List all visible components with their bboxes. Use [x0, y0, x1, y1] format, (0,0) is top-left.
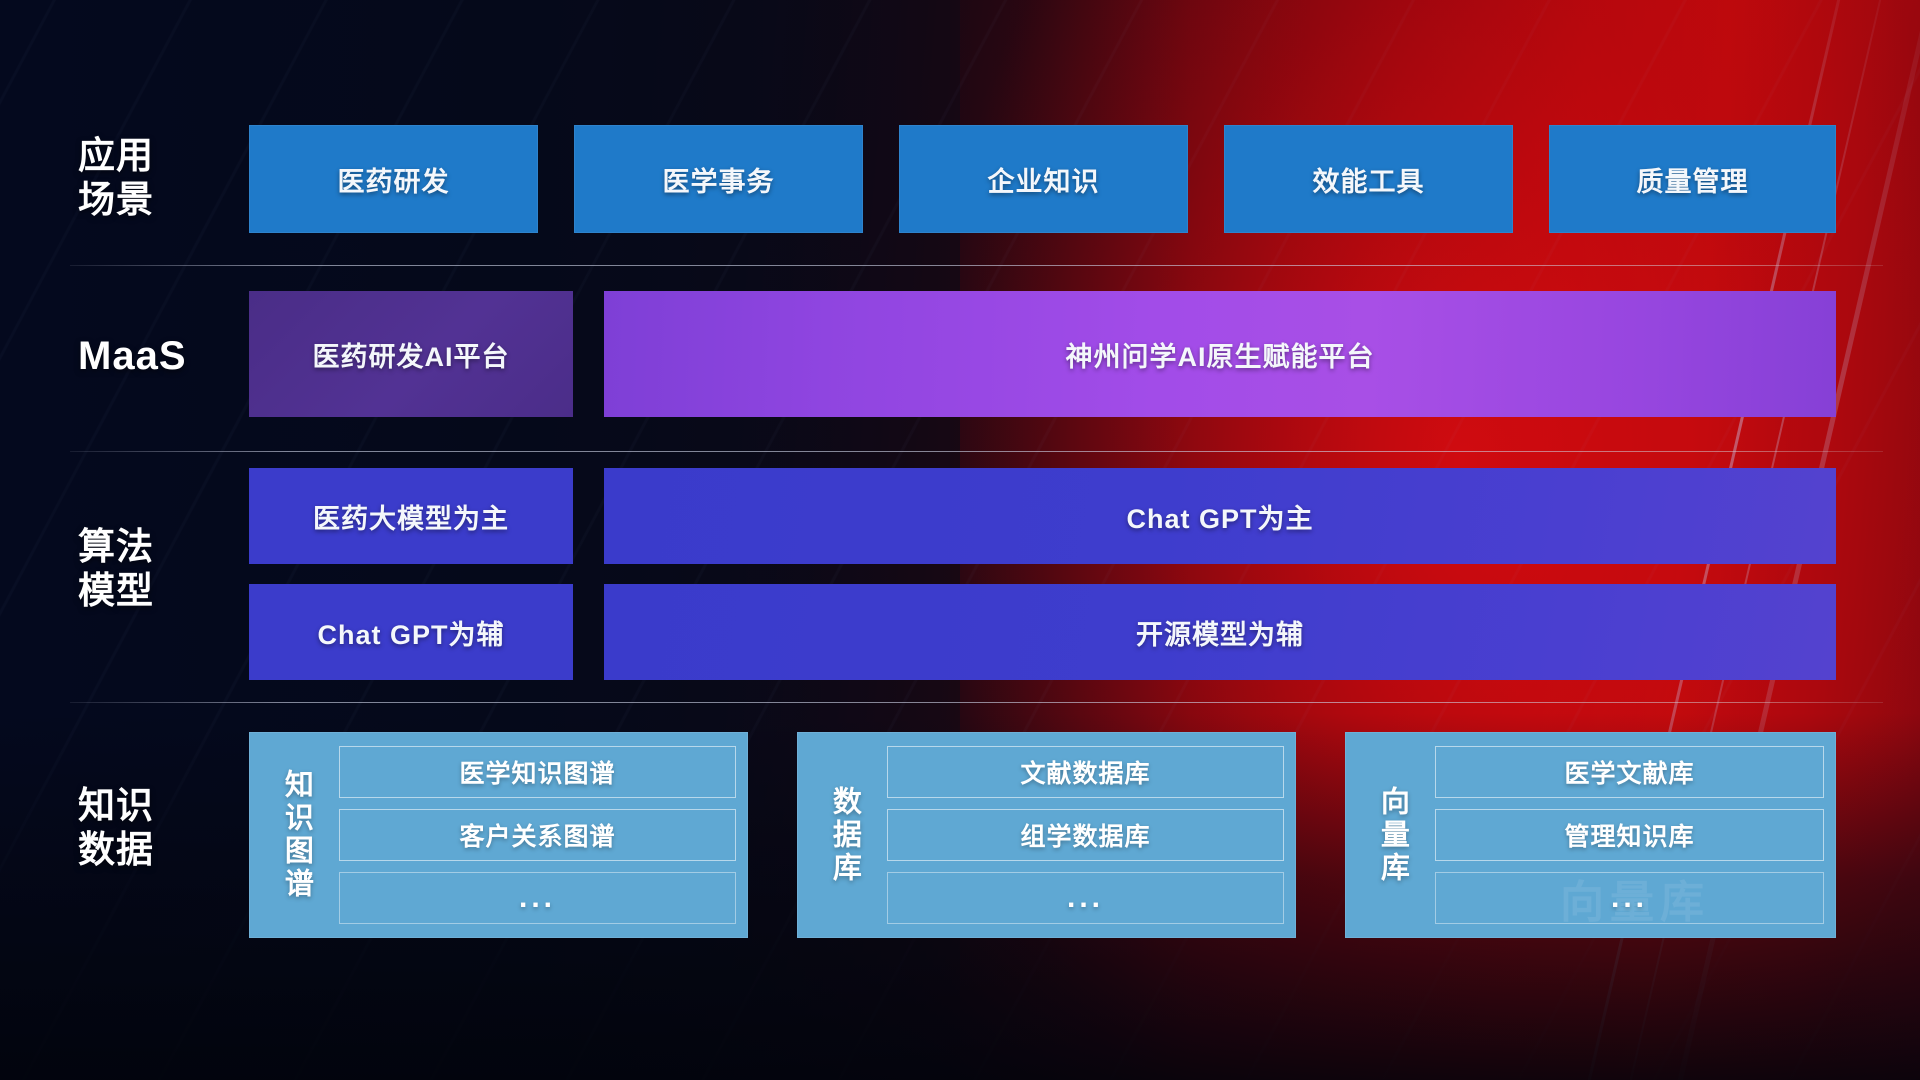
divider-algorithm-knowledge	[70, 702, 1883, 703]
knowledge-items-list: 医学文献库 管理知识库 ...	[1429, 742, 1824, 928]
knowledge-group-database[interactable]: 数据库 文献数据库 组学数据库 ...	[797, 732, 1296, 938]
knowledge-items-list: 医学知识图谱 客户关系图谱 ...	[333, 742, 736, 928]
row-label-maas: MaaS	[78, 333, 238, 380]
knowledge-item-more[interactable]: ...	[1435, 872, 1824, 924]
row-label-line2: 场景	[78, 178, 238, 222]
row-label-algorithm-model: 算法 模型	[78, 525, 238, 612]
row-algorithm-model: 算法 模型 医药大模型为主 Chat GPT为主 Chat GPT为辅 开源模型…	[0, 468, 1920, 680]
algo-box-chatgpt-secondary[interactable]: Chat GPT为辅	[249, 584, 573, 680]
divider-maas-algorithm	[70, 451, 1883, 452]
app-box-quality-management[interactable]: 质量管理	[1549, 125, 1836, 233]
knowledge-group-vector-database[interactable]: 向量库 医学文献库 管理知识库 ...	[1345, 732, 1836, 938]
algo-box-chatgpt-primary[interactable]: Chat GPT为主	[604, 468, 1836, 564]
app-box-medical-affairs[interactable]: 医学事务	[574, 125, 863, 233]
knowledge-item-more[interactable]: ...	[339, 872, 736, 924]
row-application-scenarios: 应用 场景 医药研发 医学事务 企业知识 效能工具 质量管理	[0, 125, 1920, 233]
row-label-line2: 模型	[78, 569, 238, 613]
knowledge-item-management-knowledge-base[interactable]: 管理知识库	[1435, 809, 1824, 861]
knowledge-items-list: 文献数据库 组学数据库 ...	[881, 742, 1284, 928]
row-maas: MaaS 医药研发AI平台 神州问学AI原生赋能平台	[0, 291, 1920, 417]
app-box-medicine-rd[interactable]: 医药研发	[249, 125, 538, 233]
knowledge-group-title-knowledge-graph: 知识图谱	[259, 742, 333, 928]
algo-box-opensource-secondary[interactable]: 开源模型为辅	[604, 584, 1836, 680]
knowledge-item-omics-database[interactable]: 组学数据库	[887, 809, 1284, 861]
row-label-line2: 数据	[78, 828, 238, 872]
knowledge-item-medical-knowledge-graph[interactable]: 医学知识图谱	[339, 746, 736, 798]
knowledge-item-literature-database[interactable]: 文献数据库	[887, 746, 1284, 798]
row-label-application-scenarios: 应用 场景	[78, 134, 238, 221]
row-knowledge-data: 知识 数据 知识图谱 医学知识图谱 客户关系图谱 ... 数据库 文献数据库 组…	[0, 732, 1920, 938]
knowledge-item-more[interactable]: ...	[887, 872, 1284, 924]
maas-box-medicine-rd-ai-platform[interactable]: 医药研发AI平台	[249, 291, 573, 417]
knowledge-item-medical-literature-library[interactable]: 医学文献库	[1435, 746, 1824, 798]
maas-box-shenzhou-wenxue-platform[interactable]: 神州问学AI原生赋能平台	[604, 291, 1836, 417]
app-box-efficiency-tools[interactable]: 效能工具	[1224, 125, 1513, 233]
app-box-enterprise-knowledge[interactable]: 企业知识	[899, 125, 1188, 233]
knowledge-group-title-vector-database: 向量库	[1355, 742, 1429, 928]
knowledge-group-title-database: 数据库	[807, 742, 881, 928]
knowledge-item-customer-relation-graph[interactable]: 客户关系图谱	[339, 809, 736, 861]
knowledge-group-knowledge-graph[interactable]: 知识图谱 医学知识图谱 客户关系图谱 ...	[249, 732, 748, 938]
divider-application-maas	[70, 265, 1883, 266]
row-label-line1: 知识	[78, 784, 238, 828]
algo-box-medicine-llm-primary[interactable]: 医药大模型为主	[249, 468, 573, 564]
row-label-line1: 算法	[78, 525, 238, 569]
architecture-diagram: 应用 场景 医药研发 医学事务 企业知识 效能工具 质量管理 MaaS 医药研发…	[0, 0, 1920, 1080]
row-label-knowledge-data: 知识 数据	[78, 784, 238, 871]
row-label-line1: 应用	[78, 134, 238, 178]
